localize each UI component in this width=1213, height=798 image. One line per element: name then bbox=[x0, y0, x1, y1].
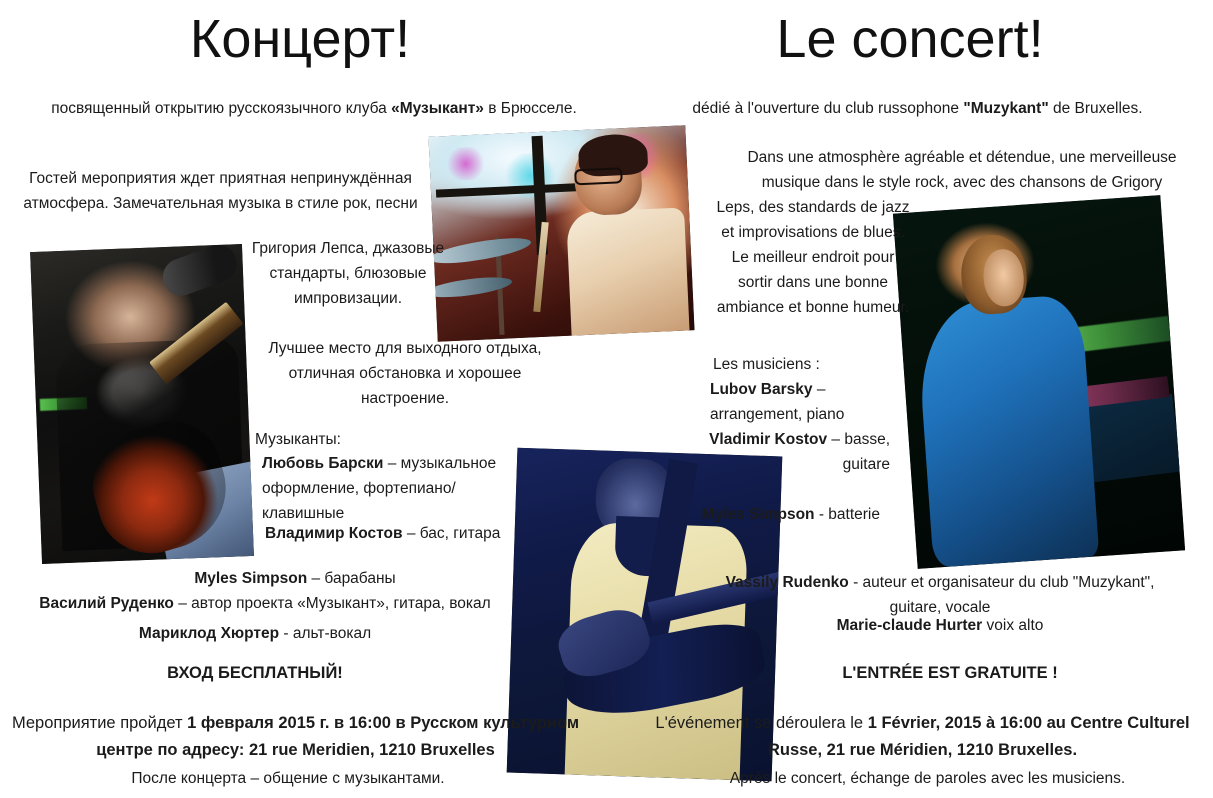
subtitle-fr-club: "Muzykant" bbox=[963, 100, 1048, 117]
musician-name: Lubov Barsky bbox=[710, 381, 813, 398]
concert-poster: Концерт! Le concert! bbox=[0, 0, 1213, 798]
event-details-russian: Мероприятие пройдет 1 февраля 2015 г. в … bbox=[8, 710, 583, 764]
musician-role: - альт-вокал bbox=[279, 625, 371, 642]
musician-name: Myles Simpson bbox=[194, 570, 307, 587]
subtitle-fr-part1: dédié à l'ouverture du club russophone bbox=[692, 100, 963, 117]
musician-role: - auteur et organisateur du club "Muzyka… bbox=[849, 574, 1155, 616]
musician-name: Marie-claude Hurter bbox=[837, 617, 983, 634]
musician-french-myles: Myles Simpson - batterie bbox=[700, 502, 880, 527]
microphone-shape bbox=[158, 244, 243, 301]
intro-paragraph2-french: Leps, des standards de jazz et improvisa… bbox=[716, 195, 910, 320]
musician-role: – барабаны bbox=[307, 570, 395, 587]
intro-paragraph-french: Dans une atmosphère agréable et détendue… bbox=[718, 145, 1206, 195]
musician-name: Любовь Барски bbox=[262, 455, 383, 472]
glasses-shape bbox=[574, 167, 622, 185]
drummer-photo-background bbox=[428, 125, 694, 341]
musician-name: Myles Simpson bbox=[702, 506, 815, 523]
tshirt-shape bbox=[566, 207, 690, 339]
guitarist-photo bbox=[30, 244, 254, 564]
drummer-photo bbox=[428, 125, 694, 341]
musician-french-marieclaude: Marie-claude Hurter voix alto bbox=[700, 613, 1180, 638]
intro-paragraph2-russian: Григория Лепса, джазовые стандарты, блюз… bbox=[250, 236, 446, 311]
pianist-photo-background bbox=[893, 195, 1185, 569]
musician-role: – бас, гитара bbox=[407, 525, 501, 542]
subtitle-ru-club: «Музыкант» bbox=[391, 100, 484, 117]
musician-name: Владимир Костов bbox=[265, 525, 407, 542]
musicians-heading-french: Les musiciens : bbox=[713, 352, 953, 377]
page-title-russian: Концерт! bbox=[0, 12, 600, 66]
subtitle-fr-part2: de Bruxelles. bbox=[1049, 100, 1143, 117]
musician-role: – автор проекта «Музыкант», гитара, вока… bbox=[174, 595, 491, 612]
musician-russian-mariklod: Мариклод Хюртер - альт-вокал bbox=[20, 621, 490, 646]
details-fr-prefix: L'événement se déroulera le bbox=[655, 714, 867, 732]
musician-role: - batterie bbox=[815, 506, 880, 523]
guitarist-photo-背景 bbox=[30, 244, 254, 564]
after-concert-russian: После концерта – общение с музыкантами. bbox=[8, 766, 568, 791]
intro-paragraph-russian: Гостей мероприятия ждет приятная неприну… bbox=[8, 166, 433, 216]
free-entry-russian: ВХОД БЕСПЛАТНЫЙ! bbox=[20, 660, 490, 687]
musician-french-vladimir: Vladimir Kostov – basse, guitare bbox=[700, 427, 890, 477]
musician-russian-vladimir: Владимир Костов – бас, гитара bbox=[265, 521, 515, 546]
details-ru-prefix: Мероприятие пройдет bbox=[12, 714, 187, 732]
free-entry-french: L'ENTRÉE EST GRATUITE ! bbox=[715, 660, 1185, 687]
subtitle-french: dédié à l'ouverture du club russophone "… bbox=[630, 96, 1205, 121]
musician-name: Василий Руденко bbox=[39, 595, 174, 612]
subtitle-ru-part1: посвященный открытию русскоязычного клуб… bbox=[51, 100, 391, 117]
musician-name: Vladimir Kostov bbox=[709, 431, 827, 448]
subtitle-russian: посвященный открытию русскоязычного клуб… bbox=[34, 96, 594, 121]
event-details-french: L'événement se déroulera le 1 Février, 2… bbox=[640, 710, 1205, 764]
musician-role: – basse, guitare bbox=[827, 431, 890, 473]
musician-name: Vassily Rudenko bbox=[726, 574, 849, 591]
after-concert-french: Après le concert, échange de paroles ave… bbox=[650, 766, 1205, 791]
musician-name: Мариклод Хюртер bbox=[139, 625, 279, 642]
blue-dress-shape bbox=[915, 293, 1099, 567]
musician-russian-lubov: Любовь Барски – музыкальное оформление, … bbox=[262, 451, 512, 526]
intro-paragraph3-russian: Лучшее место для выходного отдыха, отлич… bbox=[245, 336, 565, 411]
musician-russian-vassily: Василий Руденко – автор проекта «Музыкан… bbox=[0, 591, 530, 616]
musician-role: voix alto bbox=[982, 617, 1043, 634]
musician-french-lubov: Lubov Barsky – arrangement, piano bbox=[710, 377, 895, 427]
subtitle-ru-part2: в Брюсселе. bbox=[484, 100, 577, 117]
color-blotch-magenta bbox=[444, 147, 487, 182]
musician-russian-myles: Myles Simpson – барабаны bbox=[60, 566, 530, 591]
pianist-photo bbox=[893, 195, 1185, 569]
musicians-heading-russian: Музыканты: bbox=[255, 427, 555, 452]
page-title-french: Le concert! bbox=[610, 12, 1210, 66]
